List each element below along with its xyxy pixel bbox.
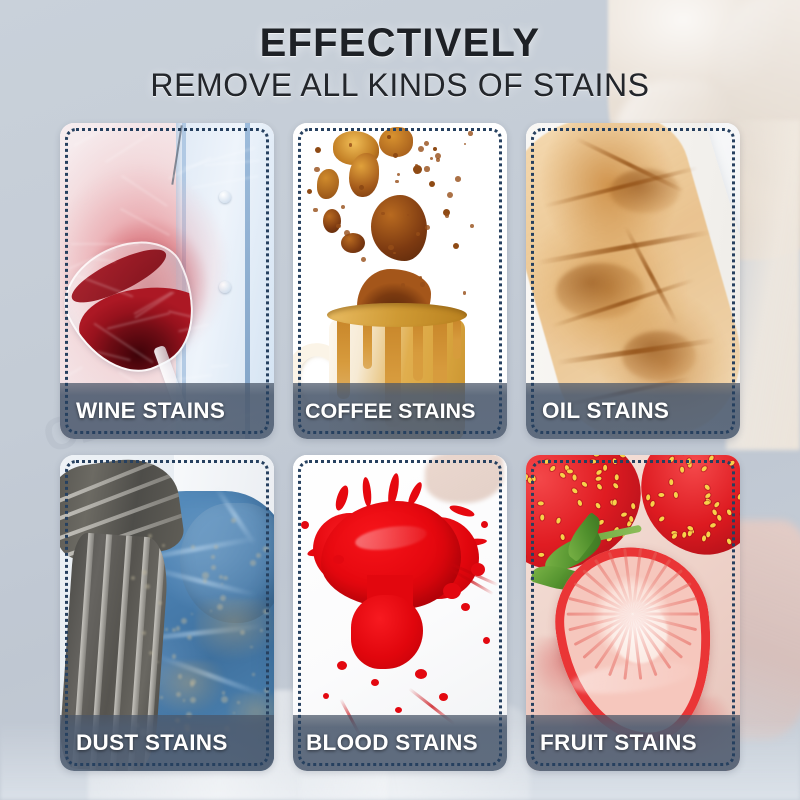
coffee-droplet [393,252,395,254]
dust-speck [252,673,254,675]
coffee-droplet [401,283,406,288]
infographic-canvas: CLEANER EFFECTIVELY REMOVE ALL KINDS OF … [0,0,800,800]
dust-speck [210,610,212,612]
coffee-droplet [430,157,433,160]
blood-droplet [353,639,360,645]
stain-card-wine[interactable]: WINE STAINS [60,123,274,439]
card-label-text: BLOOD STAINS [306,730,478,756]
coffee-splash-blob [371,195,427,261]
blood-droplet [443,583,461,599]
dust-speck [214,545,218,549]
coffee-droplet [468,131,472,135]
heading-block: EFFECTIVELY REMOVE ALL KINDS OF STAINS [0,22,800,103]
dust-speck [190,697,196,703]
card-label-text: DUST STAINS [76,730,228,756]
stain-card-dust[interactable]: DUST STAINS [60,455,274,771]
coffee-droplet [314,167,319,172]
dust-speck [160,696,163,699]
coffee-droplet [447,192,453,198]
stain-card-fruit[interactable]: FRUIT STAINS [526,455,740,771]
card-label-bar: BLOOD STAINS [293,715,507,771]
coffee-splash-blob [317,169,339,199]
dust-speck [222,691,226,695]
coffee-droplet [470,224,474,228]
coffee-droplet [344,230,350,236]
blood-droplet [337,661,347,670]
dust-speck [240,630,245,635]
coffee-droplet [445,213,450,218]
card-label-text: COFFEE STAINS [305,399,475,424]
dust-speck [162,544,165,547]
coffee-droplet [381,212,385,216]
dust-speck [158,601,162,605]
blood-droplet [439,693,448,701]
coffee-droplet [315,147,321,153]
coffee-droplet [415,164,418,167]
coffee-droplet [387,135,391,139]
blood-droplet [415,669,427,679]
card-label-text: OIL STAINS [542,398,669,424]
coffee-droplet [359,185,364,190]
coffee-droplet [397,173,400,176]
coffee-droplet [313,208,317,212]
strawberry-highlight [569,656,695,699]
page-subtitle: REMOVE ALL KINDS OF STAINS [0,68,800,103]
oil-blot [622,331,696,381]
dust-speck [221,583,223,585]
coffee-droplet [407,214,409,216]
coffee-droplet [429,181,435,187]
dust-speck [131,576,135,580]
blood-droplet [461,603,470,611]
dust-speck [172,654,176,658]
dust-speck [191,545,194,548]
coffee-droplet [415,172,417,174]
coffee-splash-blob [341,233,365,253]
dust-speck [217,604,223,610]
coffee-droplet [424,166,429,171]
coffee-droplet [436,158,440,162]
card-label-bar: COFFEE STAINS [293,383,507,439]
coffee-droplet [341,205,345,209]
dust-speck [263,546,269,552]
stain-card-coffee[interactable]: COFFEE STAINS [293,123,507,439]
blood-droplet [371,679,379,686]
card-label-text: WINE STAINS [76,398,225,424]
coffee-droplet [433,147,437,151]
dust-speck [250,646,253,649]
blood-droplet [333,555,344,564]
coffee-droplet [388,245,394,251]
blood-droplet [483,637,490,644]
coffee-droplet [336,224,340,228]
coffee-droplet [453,243,459,249]
dust-speck [211,565,216,570]
dust-speck [250,560,256,566]
coffee-splash-blob [323,209,341,233]
coffee-droplet [361,257,366,262]
coffee-droplet [395,180,398,183]
dust-speck [202,572,208,578]
card-label-bar: DUST STAINS [60,715,274,771]
coffee-droplet [419,276,422,279]
card-label-bar: FRUIT STAINS [526,715,740,771]
coffee-droplet [424,141,429,146]
stain-card-blood[interactable]: BLOOD STAINS [293,455,507,771]
card-label-text: FRUIT STAINS [540,730,697,756]
coffee-droplet [425,225,430,230]
dust-speck [260,629,263,632]
coffee-droplet [418,146,424,152]
dust-speck [178,674,182,678]
card-label-bar: WINE STAINS [60,383,274,439]
blood-droplet [301,521,309,529]
coffee-droplet [455,176,461,182]
coffee-droplet [463,291,466,294]
dust-speck [211,555,214,558]
stain-card-grid: WINE STAINS [60,123,740,771]
coffee-splash-blob [349,153,379,197]
stain-card-oil[interactable]: OIL STAINS [526,123,740,439]
blood-droplet [323,693,329,699]
blood-droplet [481,521,488,528]
dust-speck [221,696,228,703]
coffee-droplet [464,143,466,145]
coffee-droplet [393,153,398,158]
coffee-droplet [416,232,420,236]
mug-rim [327,303,467,327]
dust-speck [142,631,146,635]
coffee-droplet [420,282,425,287]
dust-speck [223,576,227,580]
coffee-droplet [307,189,312,194]
blood-droplet [395,707,402,713]
page-title: EFFECTIVELY [0,22,800,64]
dust-speck [176,626,181,631]
dust-speck [231,518,236,523]
blood-droplet [471,563,485,576]
card-label-bar: OIL STAINS [526,383,740,439]
dust-speck [142,570,147,575]
